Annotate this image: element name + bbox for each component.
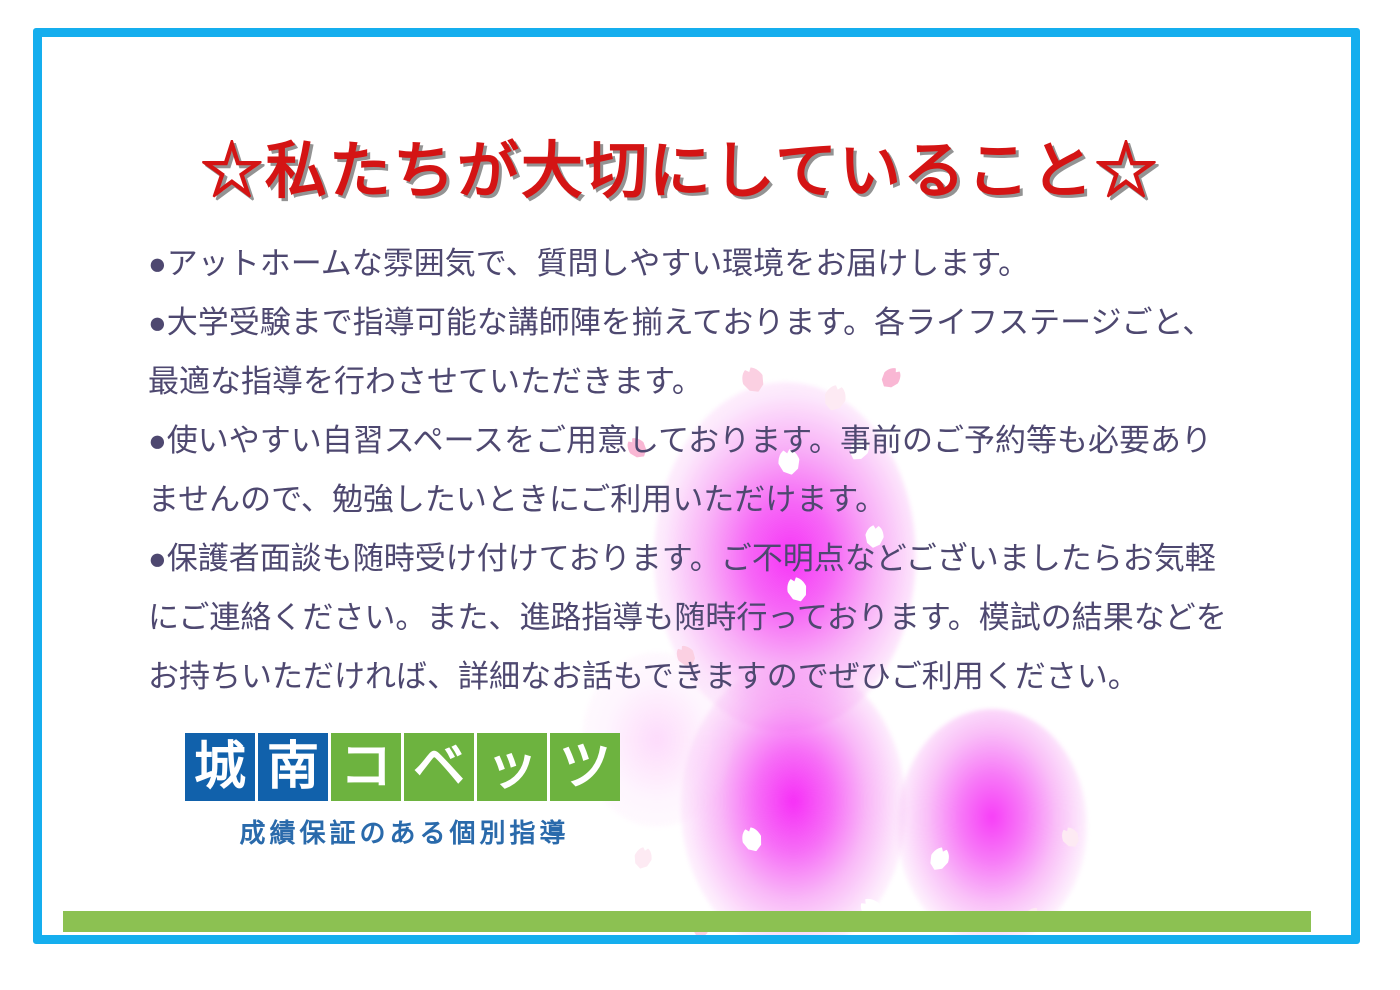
logo-tile: 城 [185, 733, 255, 801]
logo-tile: ベ [404, 733, 474, 801]
body-line: お持ちいただければ、詳細なお話もできますのでぜひご利用ください。 [148, 647, 1268, 706]
logo-tile: 南 [258, 733, 328, 801]
logo-tile: ッ [477, 733, 547, 801]
body-line: にご連絡ください。また、進路指導も随時行っております。模試の結果などを [148, 588, 1268, 647]
body-line: ●大学受験まで指導可能な講師陣を揃えております。各ライフステージごと、 [148, 293, 1268, 352]
brand-logo: 城 南 コ ベ ッ ツ 成績保証のある個別指導 [185, 733, 624, 850]
body-line: ませんので、勉強したいときにご利用いただけます。 [148, 470, 1268, 529]
body-line: ●保護者面談も随時受け付けております。ご不明点などございましたらお気軽 [148, 529, 1268, 588]
bottom-accent-bar [63, 911, 1311, 932]
page-title: ☆私たちが大切にしていること☆ [90, 133, 1270, 211]
body-line: 最適な指導を行わさせていただきます。 [148, 352, 1268, 411]
body-line: ●アットホームな雰囲気で、質問しやすい環境をお届けします。 [148, 234, 1268, 293]
logo-tile: コ [331, 733, 401, 801]
flyer-page: ☆私たちが大切にしていること☆ ●アットホームな雰囲気で、質問しやすい環境をお届… [0, 0, 1400, 990]
logo-tagline: 成績保証のある個別指導 [185, 813, 624, 850]
logo-tile: ツ [550, 733, 620, 801]
logo-tile-row: 城 南 コ ベ ッ ツ [185, 733, 624, 801]
body-line: ●使いやすい自習スペースをご用意しております。事前のご予約等も必要あり [148, 411, 1268, 470]
body-text-block: ●アットホームな雰囲気で、質問しやすい環境をお届けします。 ●大学受験まで指導可… [148, 234, 1268, 706]
flyer-content: ☆私たちが大切にしていること☆ ●アットホームな雰囲気で、質問しやすい環境をお届… [0, 0, 1400, 990]
